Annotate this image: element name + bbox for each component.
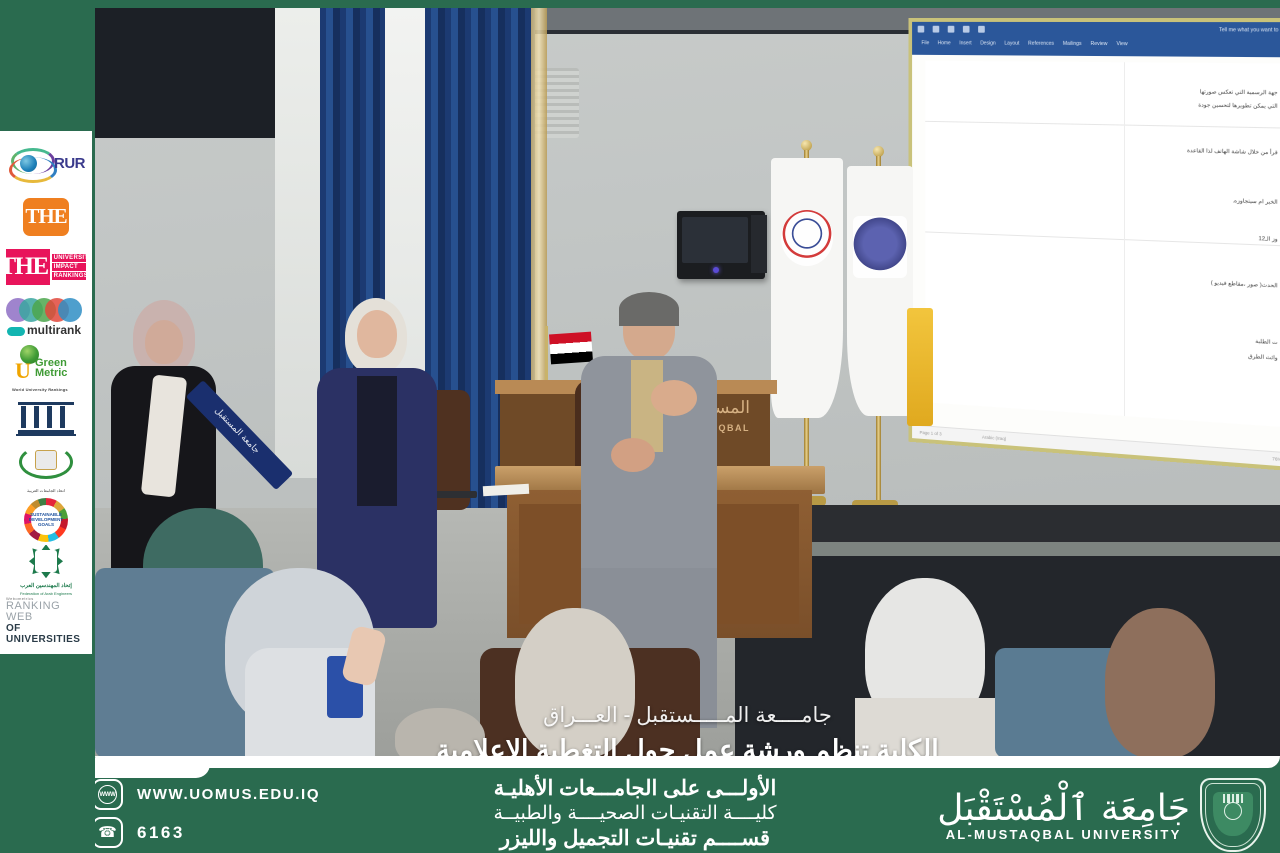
webometrics-line-2: OF UNIVERSITIES xyxy=(6,623,86,645)
footer-corner-notch xyxy=(80,758,210,778)
al-mustaqbal-university-crest xyxy=(1200,778,1266,852)
rur-logo: RUR xyxy=(6,141,86,192)
audience-head-5 xyxy=(1105,608,1215,756)
brand-name-english: AL-MUSTAQBAL UNIVERSITY xyxy=(937,827,1190,842)
status-language: Arabic (Iraq) xyxy=(982,435,1006,442)
the-impact-line-1: UNIVERSITY xyxy=(52,254,86,262)
status-zoom-level: 76% xyxy=(1272,456,1280,462)
rankings-sidebar: RUR THE THE UNIVERSITY IMPACT RANKINGS xyxy=(0,0,95,853)
audience-head-3 xyxy=(515,608,635,756)
event-photo: Tell me what you want to do File Home In… xyxy=(95,8,1280,756)
rur-wordmark: RUR xyxy=(54,155,85,172)
ribbon-tab-home[interactable]: Home xyxy=(938,40,951,46)
phone-ring-icon: ☎ xyxy=(92,817,123,848)
doc-line-8: وائث الطرق xyxy=(1248,354,1278,362)
webometrics-line-1: RANKING WEB xyxy=(6,601,86,623)
doc-line-5: وز الـ12 xyxy=(1259,236,1278,243)
greenmetric-caption: World University Rankings xyxy=(12,387,68,392)
ribbon-tab-insert[interactable]: Insert xyxy=(959,40,971,46)
ui-greenmetric-logo: U GreenMetric World University Rankings xyxy=(6,343,86,394)
phone-row[interactable]: ☎ 6163 xyxy=(92,817,352,848)
photo-overlay-title: الكلية تنظم ورشة عمل حول التغطية الاعلام… xyxy=(95,735,1280,756)
webometrics-logo: Webometrics RANKING WEB OF UNIVERSITIES xyxy=(6,596,86,647)
globe-www-icon: WWW xyxy=(92,779,123,810)
umultirank-logo: multirank xyxy=(6,293,86,344)
iraq-desk-flag xyxy=(549,332,593,365)
the-logo: THE xyxy=(6,192,86,243)
tell-me-search[interactable]: Tell me what you want to do xyxy=(1219,27,1280,33)
doc-line-2: التي يمكن تطويرها لتحسين جودة xyxy=(1198,103,1277,110)
undo-icon[interactable] xyxy=(933,26,940,33)
flag-yellow xyxy=(907,308,933,426)
ribbon-tab-review[interactable]: Review xyxy=(1091,41,1108,47)
flag-university xyxy=(847,166,913,416)
association-of-arab-universities-logo: اتحاد الجامعات العربية xyxy=(6,444,86,495)
wall-control-panel xyxy=(677,211,765,279)
footer-contact-block: WWW WWW.UOMUS.EDU.IQ ☎ 6163 xyxy=(92,779,352,853)
projection-screen: Tell me what you want to do File Home In… xyxy=(912,22,1280,467)
ribbon-tab-view[interactable]: View xyxy=(1116,41,1127,47)
doc-line-4: الخبر ام سيتجاوزه. xyxy=(1232,198,1277,206)
customize-toolbar-icon[interactable] xyxy=(978,26,985,33)
aaru-caption: اتحاد الجامعات العربية xyxy=(11,488,81,493)
flag-ministry xyxy=(771,158,843,418)
greenmetric-wordmark: GreenMetric xyxy=(35,358,67,378)
doc-line-3: قرأ من خلال شاشة الهاتف لذا القاعدة xyxy=(1187,148,1278,156)
sdg-caption: SUSTAINABLE DEVELOPMENT GOALS xyxy=(29,512,63,527)
footer-brand-block: جَامِعَة ٱلْمُسْتَقْبَل AL-MUSTAQBAL UNI… xyxy=(937,778,1266,852)
federation-of-arab-engineers-logo: إتحاد المهندسين العرب Federation of Arab… xyxy=(6,545,86,596)
the-wordmark: THE xyxy=(25,204,66,229)
sdg-goals-logo: SUSTAINABLE DEVELOPMENT GOALS xyxy=(6,495,86,546)
iraq-flag-pole xyxy=(545,326,548,386)
status-page-count: Page 1 of 3 xyxy=(920,430,942,437)
the-impact-line-3: RANKINGS xyxy=(52,272,86,280)
footer-line-1: الأولـــى على الجامـــعات الأهليـة xyxy=(355,776,915,801)
footer-line-2: كليــــة التقنيـات الصحيــــة والطبيــة xyxy=(355,801,915,826)
umultirank-mark xyxy=(7,327,25,336)
page-footer: WWW WWW.UOMUS.EDU.IQ ☎ 6163 الأولـــى عل… xyxy=(0,768,1280,853)
doc-line-6: الحدث( صور ،مقاطع فيديو ) xyxy=(1211,280,1278,289)
rankings-logo-panel: RUR THE THE UNIVERSITY IMPACT RANKINGS xyxy=(0,131,92,654)
ribbon-tab-layout[interactable]: Layout xyxy=(1004,41,1019,47)
website-label[interactable]: WWW.UOMUS.EDU.IQ xyxy=(137,786,320,803)
qs-temple-logo xyxy=(6,394,86,445)
doc-line-1: جهة الرسمية التي تعكس صورتها xyxy=(1200,89,1278,96)
format-painter-icon[interactable] xyxy=(963,26,970,33)
the-impact-line-2: IMPACT xyxy=(52,263,86,271)
ribbon-tab-mailings[interactable]: Mailings xyxy=(1063,41,1082,47)
footer-arabic-block: الأولـــى على الجامـــعات الأهليـة كليــ… xyxy=(355,776,915,851)
word-ribbon: Tell me what you want to do File Home In… xyxy=(912,22,1280,57)
the-impact-wordmark: THE xyxy=(6,249,50,285)
doc-line-7: ت الطلبة xyxy=(1255,339,1277,346)
photo-bottom-gap xyxy=(95,756,1280,768)
ribbon-tab-design[interactable]: Design xyxy=(980,41,995,47)
phone-number[interactable]: 6163 xyxy=(137,823,185,843)
panel-power-led xyxy=(713,267,719,273)
greenmetric-u-mark: U xyxy=(15,358,31,384)
ribbon-tab-file[interactable]: File xyxy=(921,40,929,46)
umultirank-wordmark: multirank xyxy=(27,323,81,337)
photo-overlay-university: جامــــعة المـــــستقبل - العـــراق xyxy=(95,703,1280,728)
ribbon-tab-references[interactable]: References xyxy=(1028,41,1054,47)
fae-caption-ar: إتحاد المهندسين العرب xyxy=(10,583,82,589)
website-row[interactable]: WWW WWW.UOMUS.EDU.IQ xyxy=(92,779,352,810)
footer-line-3: قســــم تقنيـات التجميل والليزر xyxy=(355,826,915,851)
redo-icon[interactable] xyxy=(948,26,955,33)
save-icon[interactable] xyxy=(918,26,925,33)
word-document-page[interactable]: جهة الرسمية التي تعكس صورتها التي يمكن ت… xyxy=(925,61,1280,427)
the-impact-rankings-logo: THE UNIVERSITY IMPACT RANKINGS xyxy=(6,242,86,293)
brand-name-arabic: جَامِعَة ٱلْمُسْتَقْبَل xyxy=(937,789,1190,829)
